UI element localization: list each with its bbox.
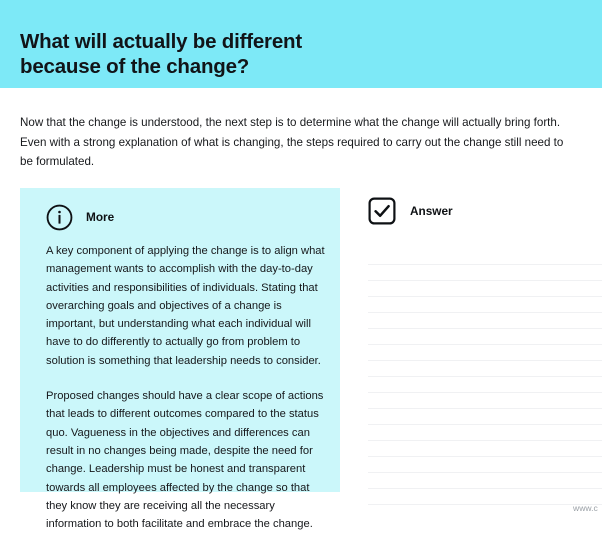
answer-line[interactable] [368,425,602,441]
answer-line[interactable] [368,409,602,425]
more-card-label: More [86,210,114,224]
page-title: What will actually be different because … [20,29,302,79]
answer-line[interactable] [368,393,602,409]
header-band: What will actually be different because … [0,0,602,88]
answer-line[interactable] [368,297,602,313]
answer-line[interactable] [368,473,602,489]
answer-line[interactable] [368,377,602,393]
answer-line[interactable] [368,457,602,473]
answer-writing-lines[interactable] [368,249,602,505]
answer-line[interactable] [368,249,602,265]
answer-line[interactable] [368,281,602,297]
checkbox-checked-icon [368,197,396,225]
answer-line[interactable] [368,489,602,505]
footer-url: www.c [573,503,602,513]
answer-line[interactable] [368,361,602,377]
more-card-header: More [46,200,326,234]
answer-line[interactable] [368,345,602,361]
answer-line[interactable] [368,265,602,281]
info-circle-icon [46,204,73,231]
answer-label: Answer [410,204,453,218]
intro-paragraph: Now that the change is understood, the n… [20,113,564,172]
answer-header: Answer [368,188,602,222]
more-card: More A key component of applying the cha… [20,188,340,492]
answer-line[interactable] [368,313,602,329]
more-paragraph-2: Proposed changes should have a clear sco… [46,387,326,533]
answer-line[interactable] [368,329,602,345]
answer-section: Answer [368,188,602,498]
more-card-body: A key component of applying the change i… [46,242,326,533]
more-paragraph-1: A key component of applying the change i… [46,242,326,370]
answer-line[interactable] [368,441,602,457]
